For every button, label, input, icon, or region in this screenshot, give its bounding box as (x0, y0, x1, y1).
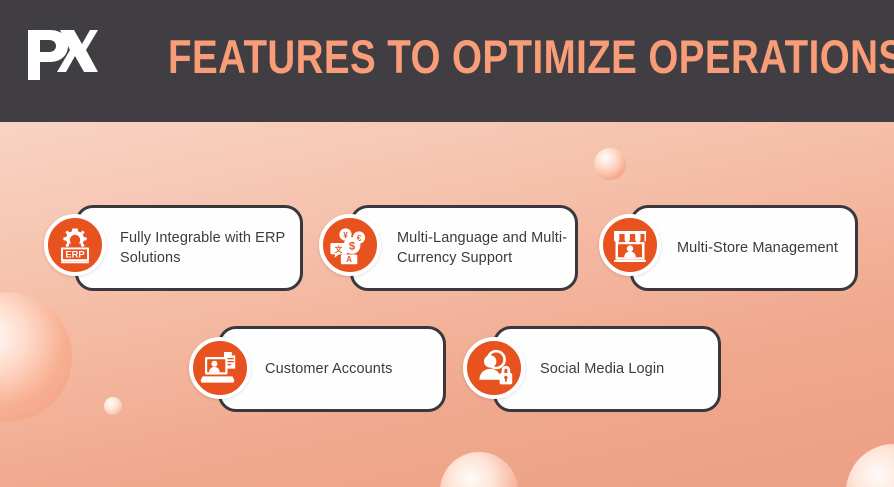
storefront-icon (599, 214, 661, 276)
storefront-glyph (610, 225, 650, 265)
user-lock-glyph (474, 348, 514, 388)
currency-language-icon: ¥ € $ 文 A (319, 214, 381, 276)
svg-text:A: A (346, 255, 352, 264)
decorative-orb-large-left (0, 292, 72, 422)
feature-card-erp[interactable]: Fully Integrable with ERP Solutions (75, 205, 303, 291)
feature-label-erp: Fully Integrable with ERP Solutions (120, 228, 300, 268)
feature-label-multi-store: Multi-Store Management (677, 238, 838, 258)
px-logo (22, 24, 100, 86)
feature-label-customer-accounts: Customer Accounts (265, 359, 392, 379)
infographic-canvas: FEATURES TO OPTIMIZE OPERATIONS Fully In… (0, 0, 894, 487)
laptop-user-document-glyph (200, 348, 240, 388)
decorative-orb-small-left (104, 397, 122, 415)
header-bar: FEATURES TO OPTIMIZE OPERATIONS (0, 0, 894, 122)
feature-card-multi-language-currency[interactable]: Multi-Language and Multi-Currency Suppor… (350, 205, 578, 291)
px-logo-icon (24, 26, 98, 84)
erp-gear-icon: ERP (44, 214, 106, 276)
decorative-orb-bottom-right (846, 444, 894, 487)
erp-gear-glyph: ERP (55, 225, 95, 265)
feature-card-social-media-login[interactable]: Social Media Login (493, 326, 721, 412)
laptop-user-document-icon (189, 337, 251, 399)
background-gradient (0, 122, 894, 487)
svg-text:$: $ (349, 241, 356, 253)
svg-text:文: 文 (335, 244, 343, 254)
currency-language-glyph: ¥ € $ 文 A (329, 224, 371, 266)
decorative-orb-top-right (594, 148, 626, 180)
feature-card-multi-store[interactable]: Multi-Store Management (630, 205, 858, 291)
feature-label-multi-language-currency: Multi-Language and Multi-Currency Suppor… (397, 228, 575, 268)
page-title: FEATURES TO OPTIMIZE OPERATIONS (168, 27, 742, 87)
feature-card-customer-accounts[interactable]: Customer Accounts (218, 326, 446, 412)
feature-label-social-media-login: Social Media Login (540, 359, 664, 379)
decorative-orb-bottom-center (440, 452, 518, 487)
erp-badge-caption: ERP (65, 248, 84, 259)
user-lock-icon (463, 337, 525, 399)
